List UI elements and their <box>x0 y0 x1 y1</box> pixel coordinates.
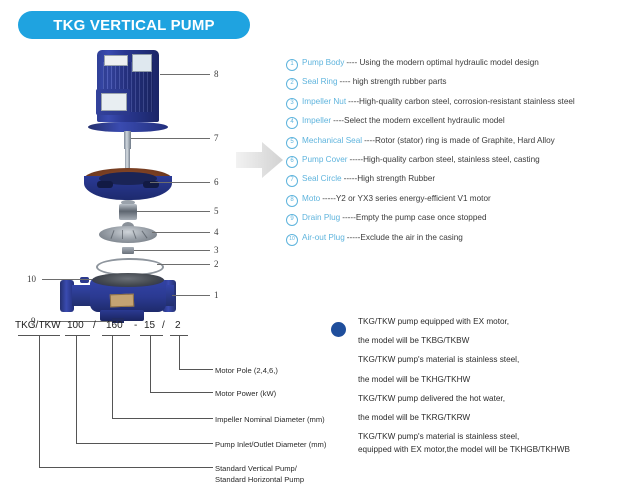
callout-10: 10 <box>27 275 36 284</box>
legend-number-icon-1: 1 <box>286 59 298 71</box>
code-separator-1: / <box>93 320 96 331</box>
legend-number-icon-2: 2 <box>286 78 298 90</box>
legend-part-desc-6: -----High-quality carbon steel, stainles… <box>350 155 540 165</box>
legend-part-name-1: Pump Body <box>302 58 344 68</box>
legend-item-5: 5 Mechanical Seal ----Rotor (stator) rin… <box>286 136 616 149</box>
leader-line-1 <box>172 295 210 296</box>
legend-number-icon-3: 3 <box>286 98 298 110</box>
legend-part-desc-2: ---- high strength rubber parts <box>340 77 447 87</box>
legend-number-icon-7: 7 <box>286 175 298 187</box>
legend-item-8: 8 Moto -----Y2 or YX3 series energy-effi… <box>286 194 616 207</box>
legend-number-icon-10: 10 <box>286 234 298 246</box>
air-out-plug <box>80 277 89 283</box>
code-underline-inlet <box>65 335 90 336</box>
legend-part-name-5: Mechanical Seal <box>302 136 362 146</box>
variant-note-line-5: TKG/TKW pump delivered the hot water, <box>358 395 617 403</box>
legend-number-icon-5: 5 <box>286 137 298 149</box>
legend-number-icon-8: 8 <box>286 195 298 207</box>
code-leader-series-horizontal <box>39 467 213 468</box>
callout-4: 4 <box>214 228 219 237</box>
motor-terminal-plate <box>101 93 127 111</box>
legend-part-desc-10: -----Exclude the air in the casing <box>347 233 463 243</box>
motor-nameplate-a <box>104 55 128 66</box>
impeller-vane <box>122 230 123 239</box>
impeller-nut <box>122 247 134 254</box>
motor-shaft-lower <box>125 148 130 170</box>
code-label-motor-pole: Motor Pole (2,4,6,) <box>215 365 278 376</box>
code-segment-inlet: 100 <box>67 320 84 331</box>
legend-part-desc-7: -----High strength Rubber <box>344 174 435 184</box>
mechanical-seal-assembly <box>119 204 137 220</box>
parts-legend-list: 1 Pump Body ---- Using the modern optima… <box>286 58 616 252</box>
legend-item-4: 4 Impeller ----Select the modern excelle… <box>286 116 616 129</box>
code-label-standard-horiz: Standard Horizontal Pump <box>215 474 304 485</box>
motor-shaft-upper <box>124 131 131 149</box>
legend-part-name-3: Impeller Nut <box>302 97 346 107</box>
legend-part-desc-5: ----Rotor (stator) ring is made of Graph… <box>364 136 555 146</box>
legend-item-3: 3 Impeller Nut ----High-quality carbon s… <box>286 97 616 110</box>
code-label-inlet-outlet: Pump Inlet/Outlet Diameter (mm) <box>215 439 326 450</box>
code-label-motor-power: Motor Power (kW) <box>215 388 276 399</box>
right-arrow-icon <box>236 140 284 180</box>
legend-part-name-6: Pump Cover <box>302 155 348 165</box>
code-underline-power <box>140 335 163 336</box>
code-segment-pole: 2 <box>175 320 181 331</box>
callout-5: 5 <box>214 207 219 216</box>
callout-6: 6 <box>214 178 219 187</box>
code-leader-inlet-horizontal <box>76 443 213 444</box>
code-separator-3: / <box>162 320 165 331</box>
legend-item-2: 2 Seal Ring ---- high strength rubber pa… <box>286 77 616 90</box>
callout-3: 3 <box>214 246 219 255</box>
code-leader-inlet-vertical <box>76 335 77 443</box>
legend-part-desc-9: -----Empty the pump case once stopped <box>342 213 486 223</box>
code-leader-impeller-horizontal <box>112 418 213 419</box>
legend-number-icon-6: 6 <box>286 156 298 168</box>
pump-exploded-diagram: 8 7 6 5 4 3 2 1 10 9 <box>0 42 250 302</box>
legend-part-desc-1: ---- Using the modern optimal hydraulic … <box>346 58 539 68</box>
legend-part-name-7: Seal Circle <box>302 174 342 184</box>
legend-part-desc-8: -----Y2 or YX3 series energy-efficient V… <box>322 194 491 204</box>
code-label-standard-vert: Standard Vertical Pump/ <box>215 463 297 474</box>
pump-cover-window-left <box>97 181 113 188</box>
leader-line-6 <box>150 182 210 183</box>
code-leader-pole-vertical <box>179 335 180 369</box>
legend-part-desc-3: ----High-quality carbon steel, corrosion… <box>348 97 575 107</box>
bullet-dot-icon <box>331 322 346 337</box>
leader-line-7 <box>131 138 210 139</box>
legend-number-icon-9: 9 <box>286 214 298 226</box>
variant-note-line-7: TKG/TKW pump's material is stainless ste… <box>358 433 617 441</box>
legend-item-6: 6 Pump Cover -----High-quality carbon st… <box>286 155 616 168</box>
legend-part-desc-4: ----Select the modern excellent hydrauli… <box>333 116 505 126</box>
variant-note-line-8: equipped with EX motor,the model will be… <box>358 446 617 454</box>
legend-part-name-9: Drain Plug <box>302 213 340 223</box>
legend-item-9: 9 Drain Plug -----Empty the pump case on… <box>286 213 616 226</box>
variant-note-line-1: TKG/TKW pump equipped with EX motor, <box>358 318 617 326</box>
leader-line-2 <box>157 264 210 265</box>
code-segment-power: 15 <box>144 320 155 331</box>
code-label-impeller-dia: Impeller Nominal Diameter (mm) <box>215 414 325 425</box>
code-separator-2: - <box>134 320 137 331</box>
callout-8: 8 <box>214 70 219 79</box>
page-title-badge: TKG VERTICAL PUMP <box>18 11 250 39</box>
leader-line-4 <box>152 232 210 233</box>
legend-part-name-8: Moto <box>302 194 320 204</box>
leader-line-5 <box>137 211 210 212</box>
variant-note-line-3: TKG/TKW pump's material is stainless ste… <box>358 356 617 364</box>
code-leader-impeller-vertical <box>112 335 113 418</box>
legend-part-name-4: Impeller <box>302 116 331 126</box>
legend-part-name-2: Seal Ring <box>302 77 338 87</box>
model-code-breakdown: TKG/TKW 100 / 160 - 15 / 2 Motor Pole (2… <box>0 306 320 500</box>
variant-note-line-6: the model will be TKRG/TKRW <box>358 414 617 422</box>
model-variant-notes: TKG/TKW pump equipped with EX motor, the… <box>331 318 617 466</box>
code-segment-series: TKG/TKW <box>15 320 61 331</box>
impeller-disc <box>99 226 157 243</box>
legend-item-10: 10 Air-out Plug -----Exclude the air in … <box>286 233 616 246</box>
pump-body-opening <box>92 273 164 287</box>
code-leader-series-vertical <box>39 335 40 467</box>
leader-line-8 <box>160 74 210 75</box>
motor-nameplate-b <box>132 54 152 72</box>
callout-7: 7 <box>214 134 219 143</box>
legend-item-1: 1 Pump Body ---- Using the modern optima… <box>286 58 616 71</box>
page-title: TKG VERTICAL PUMP <box>53 17 214 34</box>
legend-item-7: 7 Seal Circle -----High strength Rubber <box>286 174 616 187</box>
legend-number-icon-4: 4 <box>286 117 298 129</box>
callout-2: 2 <box>214 260 219 269</box>
code-underline-impeller <box>102 335 130 336</box>
variant-note-line-4: the model will be TKHG/TKHW <box>358 376 617 384</box>
code-leader-power-horizontal <box>150 392 213 393</box>
code-leader-pole-horizontal <box>179 369 213 370</box>
legend-part-name-10: Air-out Plug <box>302 233 345 243</box>
variant-note-line-2: the model will be TKBG/TKBW <box>358 337 617 345</box>
callout-1: 1 <box>214 291 219 300</box>
leader-line-10 <box>42 279 92 280</box>
leader-line-3 <box>134 250 210 251</box>
code-segment-impeller: 160 <box>106 320 123 331</box>
code-leader-power-vertical <box>150 335 151 392</box>
